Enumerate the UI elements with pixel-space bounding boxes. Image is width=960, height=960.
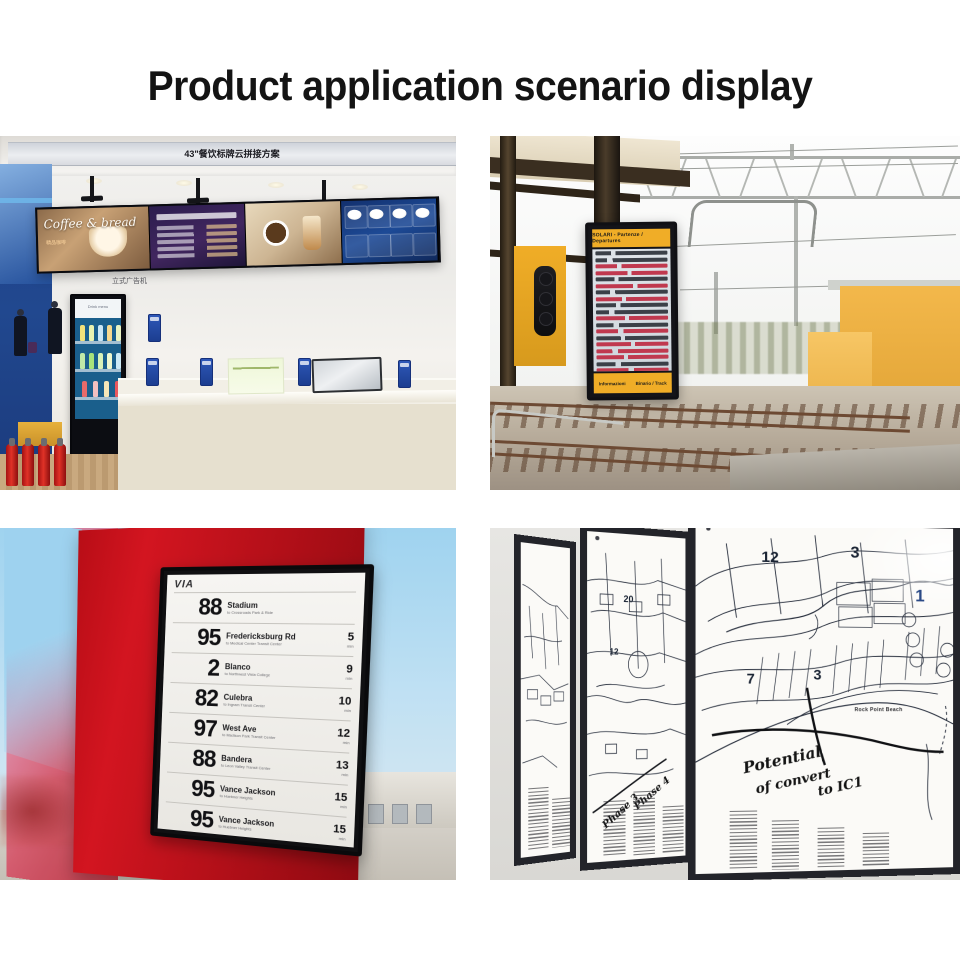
screen-mount-2	[196, 178, 200, 204]
building-window	[392, 804, 408, 824]
timetable-row	[596, 335, 668, 340]
drink-thumb	[98, 325, 103, 341]
menu-tile	[413, 233, 437, 257]
gantry-diagonal	[941, 159, 957, 197]
route-number: 95	[165, 805, 214, 833]
destination-detail: to Crossroads Park & Ride	[227, 610, 322, 615]
product-standee	[298, 358, 311, 386]
booth-header-banner: 43"餐饮标牌云拼接方案	[8, 142, 456, 166]
destination: Bandera to Leon Valley Transit Center	[221, 754, 316, 774]
drink-thumb	[116, 353, 121, 369]
map-legend-text-3	[603, 800, 625, 857]
counter-tablet-tray[interactable]	[311, 357, 382, 393]
eink-whiteboard-panel-3[interactable]: 12 3 1 7 3 Rock Point Beach Potential of…	[688, 528, 960, 880]
map-legend-text-8	[818, 827, 845, 868]
route-number: 2	[171, 656, 220, 681]
fire-extinguisher	[54, 444, 66, 486]
product-standee	[398, 360, 411, 388]
eta: 12 min	[323, 727, 351, 745]
eink-whiteboard-panel-2[interactable]: 20 12 Phase 3 Phase 4	[580, 528, 692, 871]
photo-bus-stop-totem: VIA 88 Stadium to Crossroads Park & Ride	[0, 528, 456, 880]
map-parcel-number: 12	[610, 647, 619, 657]
fire-extinguisher	[22, 444, 34, 486]
route-number: 97	[168, 716, 217, 742]
timetable-row	[596, 270, 668, 275]
gantry-diagonal	[773, 159, 789, 197]
eta-unit: min	[323, 739, 350, 746]
visitor-head-2	[51, 301, 58, 308]
eta-value: 9	[325, 664, 353, 676]
departure-row[interactable]: 88 Stadium to Crossroads Park & Ride	[173, 592, 356, 624]
destination: Vance Jackson to Huebner Heights	[220, 784, 315, 805]
timetable-footer-right: Binario / Track	[636, 380, 667, 385]
drink-thumb	[80, 325, 85, 341]
map-parcel-number: 20	[624, 594, 634, 605]
menu-screen-2[interactable]	[149, 204, 247, 269]
totem-sky-reflection	[4, 528, 82, 777]
route-number: 82	[169, 686, 218, 711]
photo-whiteboard-wall: 20 12 Phase 3 Phase 4	[490, 528, 960, 880]
product-standee	[200, 358, 213, 386]
eta: 13 min	[321, 759, 349, 777]
menu-tile	[368, 234, 392, 258]
drink-thumb	[116, 325, 121, 341]
timetable-footer-left: Informazioni	[599, 381, 626, 386]
timetable-row	[596, 316, 668, 321]
platform-timetable-display[interactable]: SOLARI - Partenze / Departures	[585, 222, 679, 401]
eta: 5 min	[327, 632, 355, 649]
drink-thumb	[89, 325, 94, 341]
destination: West Ave to Madison Park Transit Center	[222, 723, 317, 742]
gantry-diagonal	[739, 159, 755, 197]
eink-panel: VIA 88 Stadium to Crossroads Park & Ride	[158, 573, 366, 848]
catenary-pantograph-arch	[688, 200, 819, 247]
screen-mount-1	[90, 176, 94, 202]
fire-extinguisher	[6, 444, 18, 486]
scenario-image-transit-stop-eink-sign[interactable]: VIA 88 Stadium to Crossroads Park & Ride	[0, 528, 456, 880]
map-legend-text-5	[663, 805, 684, 853]
map-parcel-number: 1	[915, 586, 924, 606]
menu-tile	[345, 234, 369, 258]
drink-thumb	[98, 353, 103, 369]
destination: Vance Jackson to Huebner Heights	[218, 815, 313, 838]
visitor-figure-1	[14, 316, 27, 356]
slide-canvas: Product application scenario display 43"…	[0, 0, 960, 960]
drink-thumb	[89, 353, 94, 369]
visitor-figure-2	[48, 308, 62, 354]
eta: 15 min	[320, 791, 348, 810]
map-parcel-number: 3	[813, 666, 821, 682]
menu-screen-2-row	[158, 245, 238, 251]
destination-detail: to Medical Center Transit Center	[226, 640, 321, 647]
route-number: 95	[172, 626, 221, 650]
drink-thumb	[107, 325, 112, 341]
visitor-bag	[28, 342, 37, 353]
map-beach-label: Rock Point Beach	[855, 707, 903, 713]
timetable-row	[596, 348, 668, 353]
map-legend-text-1	[528, 787, 548, 851]
destination: Fredericksburg Rd to Medical Center Tran…	[226, 632, 321, 648]
page-title: Product application scenario display	[34, 62, 927, 110]
destination-name: Stadium	[227, 601, 322, 610]
map-parcel-number: 3	[850, 544, 859, 563]
timetable-row	[596, 283, 668, 288]
eta-unit: min	[327, 643, 354, 649]
map-legend-text-4	[633, 791, 654, 856]
drink-thumb	[104, 381, 109, 397]
menu-screen-3[interactable]	[245, 201, 343, 266]
departure-row[interactable]: 95 Fredericksburg Rd to Medical Center T…	[172, 622, 355, 656]
menu-screen-2-header	[157, 212, 237, 220]
map-legend-text-9	[863, 832, 889, 867]
route-number: 88	[167, 746, 216, 772]
map-parcel-number: 7	[747, 670, 755, 687]
kiosk-screen[interactable]: Drink menu	[75, 299, 121, 419]
signal-lamp	[539, 292, 553, 306]
timetable-row	[596, 342, 668, 347]
menu-screen-1-headline: Coffee & bread	[43, 215, 136, 232]
timetable-row	[596, 290, 668, 295]
menu-screen-1-subline: 精品咖啡	[46, 239, 66, 247]
timetable-row	[596, 329, 668, 334]
menu-screen-4[interactable]	[341, 198, 439, 263]
timetable-header: SOLARI - Partenze / Departures	[592, 229, 670, 248]
map-legend-text-6	[730, 811, 757, 872]
scenario-image-railway-platform-timetable[interactable]: SOLARI - Partenze / Departures	[490, 136, 960, 490]
latte-photo	[89, 226, 128, 257]
menu-screen-1[interactable]: Coffee & bread 精品咖啡	[37, 206, 151, 271]
timetable-row	[595, 251, 667, 256]
timetable-row	[596, 264, 668, 269]
booth-kiosk-label: 立式广告机	[112, 276, 147, 286]
signal-lamp	[539, 272, 553, 286]
iced-latte-photo	[302, 215, 321, 249]
destination: Blanco to Northwest Vista College	[225, 662, 320, 679]
drink-thumb	[82, 381, 87, 397]
gantry-diagonal	[705, 159, 721, 197]
menu-screen-2-row	[158, 238, 238, 244]
destination: Culebra to Ingram Transit Center	[223, 693, 318, 711]
building-window	[416, 804, 432, 824]
timetable-row	[597, 361, 669, 366]
menu-screen-2-row	[157, 224, 237, 230]
timetable-footer: Informazioni Binario / Track	[594, 373, 672, 394]
fire-extinguisher	[38, 444, 50, 486]
destination: Stadium to Crossroads Park & Ride	[227, 601, 322, 615]
kiosk-shelf	[75, 369, 121, 372]
dish-photo	[415, 207, 429, 217]
menu-tile	[390, 233, 414, 257]
timetable-row	[596, 322, 668, 327]
catenary-mast	[790, 144, 794, 160]
eta-unit: min	[319, 834, 346, 842]
kiosk-screen-title: Drink menu	[88, 304, 108, 309]
ceiling-downlight-3	[268, 182, 284, 188]
ceiling-downlight-4	[352, 184, 368, 190]
menu-screen-2-row	[158, 252, 238, 258]
menu-screen-2-row	[157, 231, 237, 237]
via-logo: VIA	[174, 577, 357, 590]
eta-value: 5	[327, 632, 355, 644]
kiosk-shelf	[75, 341, 121, 344]
booth-caption-text: 43"餐饮标牌云拼接方案	[8, 143, 456, 165]
signal-lamp	[539, 312, 553, 326]
timetable-header-text: SOLARI - Partenze / Departures	[592, 232, 670, 245]
photo-retail-booth: 43"餐饮标牌云拼接方案	[0, 136, 456, 490]
eink-whiteboard-panel-1[interactable]	[514, 534, 576, 866]
totem-tree-reflection	[0, 776, 80, 846]
platform-signal-light	[534, 266, 556, 336]
eta-unit: min	[321, 770, 348, 777]
timetable-body	[592, 249, 671, 372]
dish-photo	[347, 209, 361, 219]
drink-thumb	[80, 353, 85, 369]
building-window	[368, 804, 384, 824]
adjacent-booth-light-strip	[0, 198, 52, 203]
route-number: 95	[166, 775, 215, 802]
scenario-grid: 43"餐饮标牌云拼接方案	[0, 136, 960, 884]
product-standee	[146, 358, 159, 386]
photo-railway-platform: SOLARI - Partenze / Departures	[490, 136, 960, 490]
scenario-image-eink-whiteboard-wall[interactable]: 20 12 Phase 3 Phase 4	[490, 528, 960, 880]
video-wall[interactable]: Coffee & bread 精品咖啡	[35, 196, 441, 273]
eta: 15 min	[319, 823, 347, 842]
ceiling-downlight-1	[86, 178, 102, 184]
product-standee	[148, 314, 161, 342]
eta: 10 min	[324, 696, 352, 714]
timetable-row	[596, 303, 668, 308]
coffee-cup-photo	[263, 220, 290, 247]
map-parcel-number: 12	[761, 548, 778, 566]
eink-transit-display[interactable]: VIA 88 Stadium to Crossroads Park & Ride	[150, 564, 374, 857]
timetable-row	[595, 257, 667, 262]
eta-unit: min	[324, 707, 351, 713]
visitor-head-1	[17, 309, 24, 316]
timetable-row	[597, 368, 669, 372]
kiosk-shelf	[75, 397, 121, 400]
drink-thumb	[107, 353, 112, 369]
ceiling-downlight-2	[176, 180, 192, 186]
scenario-image-retail-digital-menu-board[interactable]: 43"餐饮标牌云拼接方案	[0, 136, 456, 490]
counter-poster	[228, 358, 285, 395]
panel-sensor-icon	[595, 536, 599, 540]
eta: 9 min	[325, 664, 353, 681]
route-number: 88	[173, 596, 222, 620]
eta-unit: min	[320, 802, 347, 809]
map-legend-text-2	[552, 797, 571, 848]
timetable-row	[596, 309, 668, 314]
timetable-row	[596, 296, 668, 301]
eta-unit: min	[325, 675, 352, 681]
timetable-row	[596, 277, 668, 282]
map-legend-text-7	[772, 820, 799, 870]
drink-thumb	[93, 381, 98, 397]
timetable-row	[596, 355, 668, 360]
